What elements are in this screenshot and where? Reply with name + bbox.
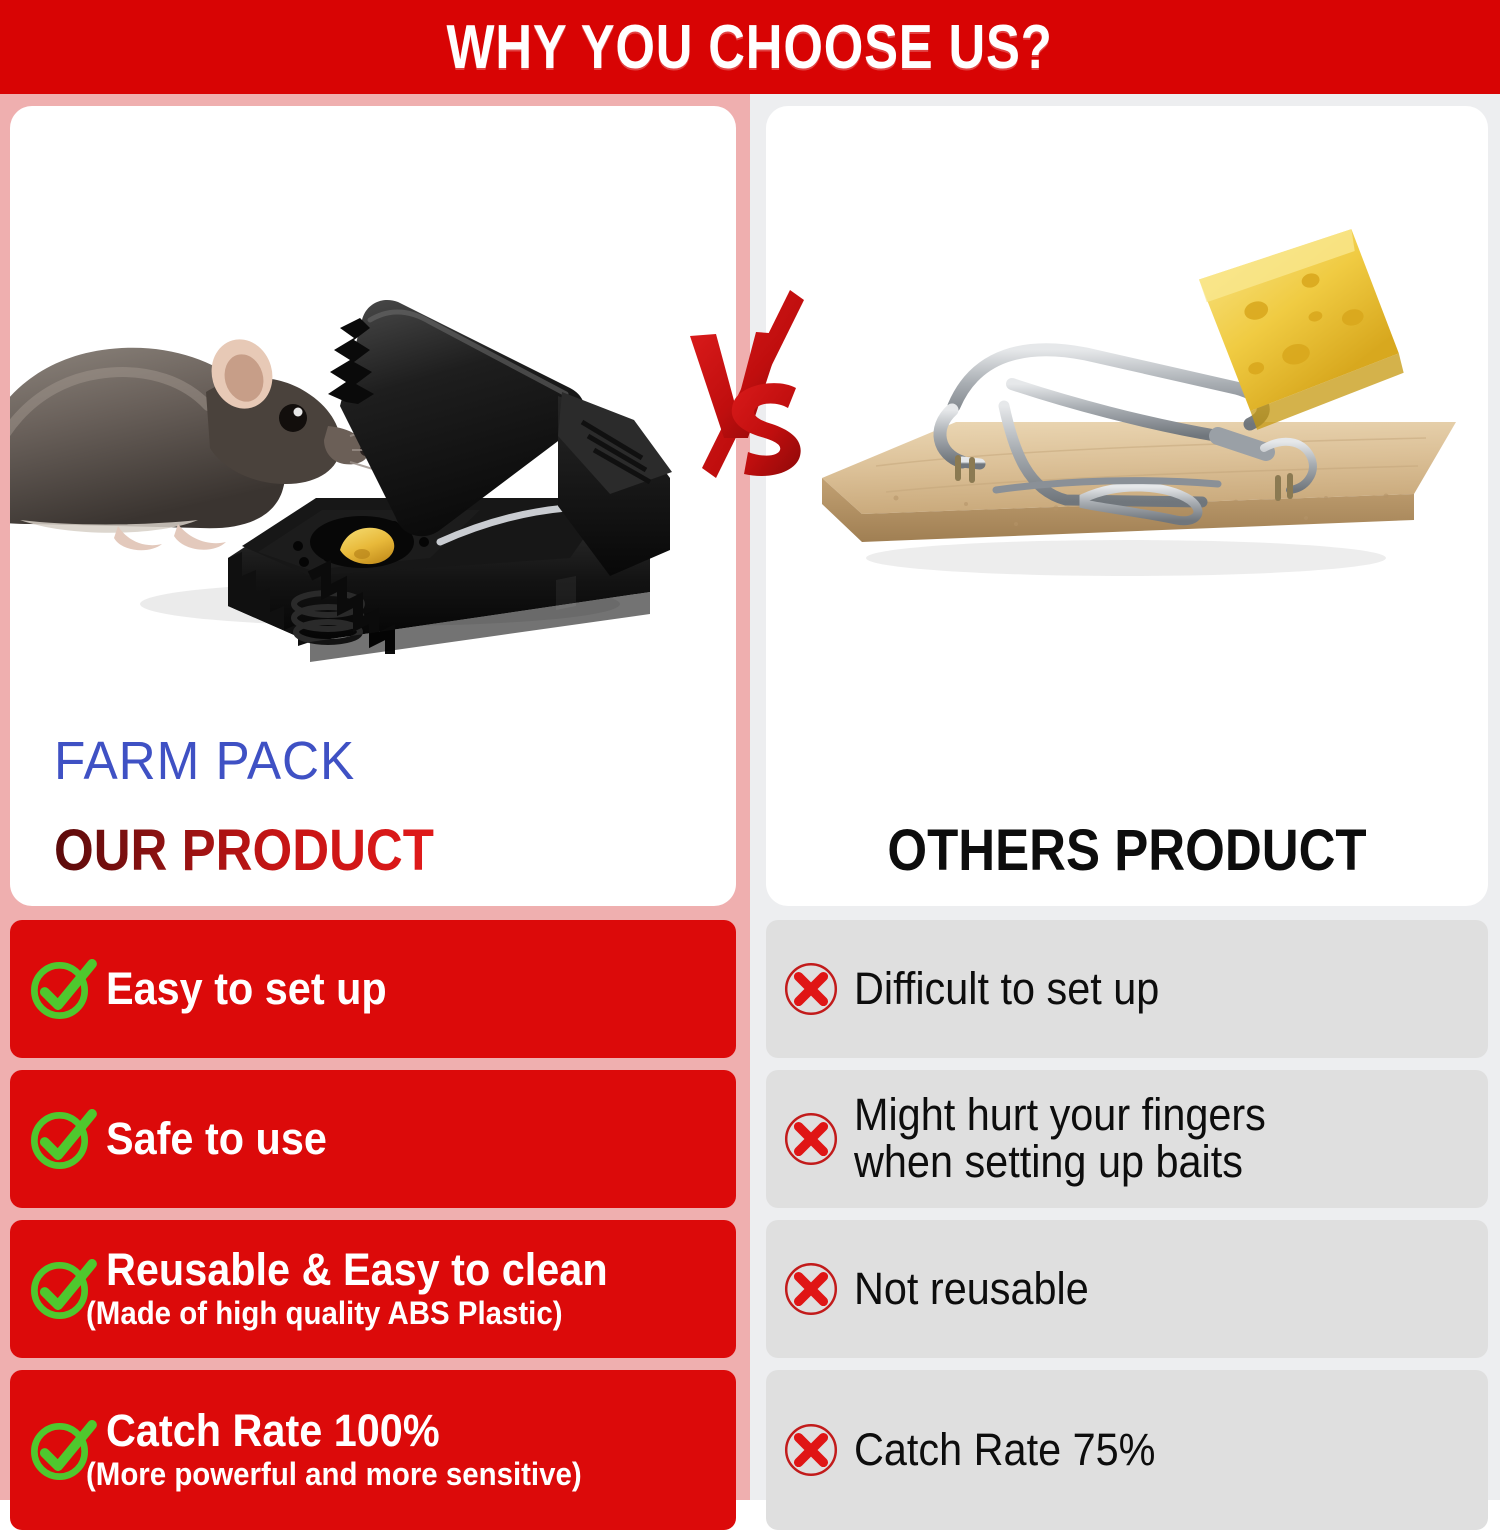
others-product-column: OTHERS PRODUCT Difficult to set up bbox=[750, 94, 1500, 1500]
feature-label-line2: when setting up baits bbox=[854, 1139, 1266, 1186]
check-circle-icon bbox=[24, 1102, 98, 1176]
others-product-image bbox=[766, 106, 1488, 706]
others-product-feature-list: Difficult to set up Might hurt your fing… bbox=[766, 906, 1488, 1530]
feature-label: Might hurt your fingers bbox=[854, 1092, 1266, 1139]
feature-label: Easy to set up bbox=[106, 966, 387, 1013]
comparison-infographic: WHY YOU CHOOSE US? bbox=[0, 0, 1500, 1500]
feature-row[interactable]: Catch Rate 75% bbox=[766, 1370, 1488, 1530]
feature-label: Safe to use bbox=[106, 1116, 327, 1163]
wooden-mousetrap-illustration bbox=[766, 106, 1488, 706]
feature-label: Reusable & Easy to clean bbox=[106, 1247, 608, 1294]
feature-row[interactable]: Reusable & Easy to clean (Made of high q… bbox=[10, 1220, 736, 1358]
black-snap-trap-illustration bbox=[10, 106, 736, 706]
our-product-column: FARM PACK OUR PRODUCT Easy to set up bbox=[0, 94, 750, 1500]
feature-row[interactable]: Difficult to set up bbox=[766, 920, 1488, 1058]
x-circle-icon bbox=[780, 1419, 842, 1481]
check-circle-icon bbox=[24, 952, 98, 1026]
feature-label: Not reusable bbox=[854, 1266, 1089, 1313]
others-product-hero-card: OTHERS PRODUCT bbox=[766, 106, 1488, 906]
x-circle-icon bbox=[780, 1258, 842, 1320]
comparison-columns: FARM PACK OUR PRODUCT Easy to set up bbox=[0, 94, 1500, 1500]
others-product-titles: OTHERS PRODUCT bbox=[766, 822, 1488, 880]
x-circle-icon bbox=[780, 1108, 842, 1170]
brand-name: FARM PACK bbox=[54, 734, 464, 788]
header-banner: WHY YOU CHOOSE US? bbox=[0, 0, 1500, 94]
our-product-title: OUR PRODUCT bbox=[54, 822, 434, 880]
feature-row[interactable]: Catch Rate 100% (More powerful and more … bbox=[10, 1370, 736, 1530]
feature-label: Difficult to set up bbox=[854, 966, 1159, 1013]
feature-row[interactable]: Might hurt your fingers when setting up … bbox=[766, 1070, 1488, 1208]
feature-row[interactable]: Safe to use bbox=[10, 1070, 736, 1208]
our-product-feature-list: Easy to set up Safe to use bbox=[10, 906, 736, 1530]
our-product-titles: FARM PACK OUR PRODUCT bbox=[54, 734, 486, 880]
cheese-bait bbox=[1196, 225, 1408, 434]
feature-row[interactable]: Not reusable bbox=[766, 1220, 1488, 1358]
page-title: WHY YOU CHOOSE US? bbox=[447, 12, 1053, 83]
feature-row[interactable]: Easy to set up bbox=[10, 920, 736, 1058]
feature-label: Catch Rate 100% bbox=[106, 1408, 583, 1455]
others-product-title: OTHERS PRODUCT bbox=[809, 822, 1444, 880]
feature-subtext: (More powerful and more sensitive) bbox=[86, 1457, 582, 1492]
our-product-image bbox=[10, 106, 736, 706]
x-circle-icon bbox=[780, 958, 842, 1020]
our-product-hero-card: FARM PACK OUR PRODUCT bbox=[10, 106, 736, 906]
feature-subtext: (Made of high quality ABS Plastic) bbox=[86, 1296, 606, 1331]
feature-label: Catch Rate 75% bbox=[854, 1427, 1155, 1474]
